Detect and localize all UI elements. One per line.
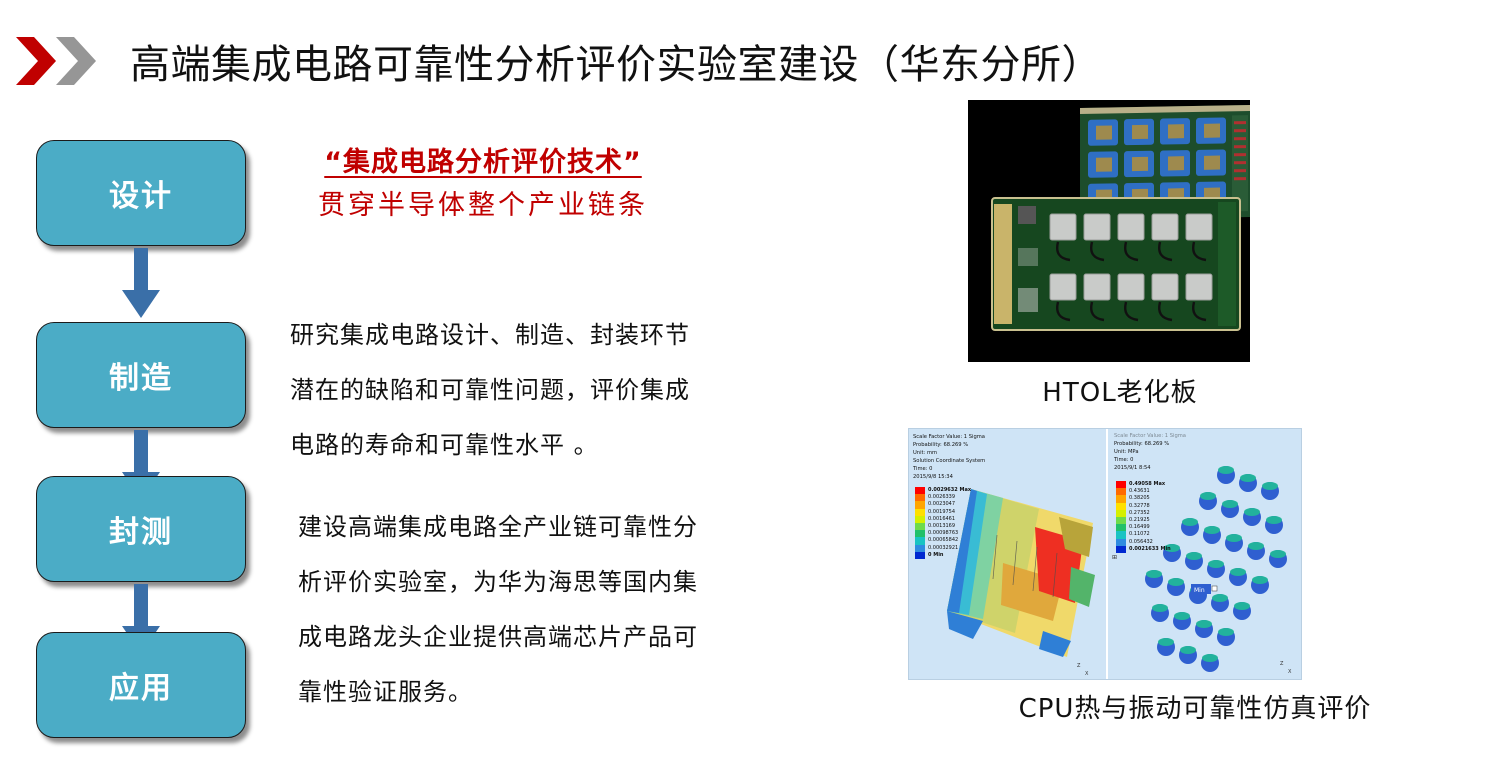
chevron-group: [14, 33, 100, 89]
legend-swatch: [1116, 488, 1126, 495]
flow-step-packaging-test[interactable]: 封测: [36, 476, 246, 582]
legend-value: 0.0029632 Max: [928, 487, 971, 494]
legend-swatch: [1116, 510, 1126, 517]
flow-arrow-1: [120, 248, 162, 320]
svg-text:Scale Factor Value: 1 Sigma: Scale Factor Value: 1 Sigma: [1114, 433, 1186, 439]
legend-swatch: [915, 509, 925, 516]
svg-text:Unit: MPa: Unit: MPa: [1114, 449, 1139, 455]
legend-value: 0.38205: [1129, 495, 1150, 502]
svg-text:Time: 0: Time: 0: [912, 466, 932, 472]
legend-swatch: [915, 487, 925, 494]
svg-text:Z: Z: [1077, 663, 1081, 669]
flow-step-label: 应用: [109, 663, 173, 707]
legend-swatch: [915, 545, 925, 552]
legend-value: 0.32778: [1129, 503, 1150, 510]
legend-value: 0.0026339: [928, 494, 955, 501]
legend-value: 0.056432: [1129, 539, 1153, 546]
legend-value: 0.0023047: [928, 501, 955, 508]
legend-swatch: [1116, 539, 1126, 546]
highlight-heading-line2: 贯穿半导体整个产业链条: [268, 183, 698, 222]
legend-swatch: [1116, 503, 1126, 510]
flow-step-label: 封测: [109, 507, 173, 551]
svg-text:Time: 0: Time: 0: [1113, 457, 1133, 463]
legend-value: 0.00032921: [928, 545, 958, 552]
legend-value: 0.00098763: [928, 530, 958, 537]
legend-swatch: [1116, 517, 1126, 524]
svg-text:⊞: ⊞: [1112, 554, 1117, 561]
min-tag-label: Min: [1194, 587, 1205, 594]
legend-value: 0.0021633 Min: [1129, 546, 1171, 553]
simulation-left-legend: 0.0029632 Max 0.0026339 0.0023047 0.0019…: [915, 487, 971, 559]
legend-value: 0.0016461: [928, 516, 955, 523]
page-title: 高端集成电路可靠性分析评价实验室建设（华东分所）: [130, 32, 1102, 90]
legend-value: 0.27352: [1129, 510, 1150, 517]
slide-root: 高端集成电路可靠性分析评价实验室建设（华东分所） 设计 制造 封测 应用 “集成…: [0, 0, 1497, 782]
svg-text:2015/9/1 8:54: 2015/9/1 8:54: [1114, 465, 1151, 471]
legend-swatch: [915, 516, 925, 523]
svg-text:Scale Factor Value: 1 Sigma: Scale Factor Value: 1 Sigma: [913, 434, 985, 440]
middle-text-column: “集成电路分析评价技术” 贯穿半导体整个产业链条 研究集成电路设计、制造、封装环…: [268, 140, 698, 222]
description-paragraph-2: 建设高端集成电路全产业链可靠性分析评价实验室，为华为海思等国内集成电路龙头企业提…: [298, 500, 708, 720]
legend-swatch: [915, 537, 925, 544]
legend-swatch: [1116, 524, 1126, 531]
legend-swatch: [1116, 481, 1126, 488]
legend-value: 0 Min: [928, 552, 943, 559]
legend-value: 0.16499: [1129, 524, 1150, 531]
svg-text:X: X: [1085, 671, 1089, 677]
legend-value: 0.0019754: [928, 509, 955, 516]
svg-text:X: X: [1288, 669, 1292, 675]
flow-step-manufacture[interactable]: 制造: [36, 322, 246, 428]
svg-text:Unit: mm: Unit: mm: [913, 450, 937, 456]
simulation-image: Scale Factor Value: 1 Sigma Probability:…: [908, 428, 1302, 680]
htol-board-photo: [968, 100, 1250, 362]
legend-swatch: [915, 523, 925, 530]
legend-swatch: [1116, 546, 1126, 553]
legend-swatch: [1116, 531, 1126, 538]
svg-text:2015/9/8 15:34: 2015/9/8 15:34: [913, 474, 954, 480]
highlight-heading-line1: “集成电路分析评价技术”: [268, 140, 698, 179]
simulation-left-panel: Scale Factor Value: 1 Sigma Probability:…: [909, 429, 1105, 679]
svg-text:Probability: 68.269 %: Probability: 68.269 %: [1114, 441, 1169, 447]
legend-value: 0.21925: [1129, 517, 1150, 524]
legend-swatch: [915, 552, 925, 559]
flow-step-label: 设计: [109, 171, 173, 215]
flow-step-application[interactable]: 应用: [36, 632, 246, 738]
flow-step-design[interactable]: 设计: [36, 140, 246, 246]
htol-board-illustration: [968, 100, 1250, 362]
legend-value: 0.0013169: [928, 523, 955, 530]
legend-swatch: [915, 530, 925, 537]
legend-swatch: [915, 501, 925, 508]
legend-value: 0.49058 Max: [1129, 481, 1165, 488]
legend-swatch: [915, 494, 925, 501]
simulation-right-panel: Min Scale Factor Value: 1 Sigma Probabil…: [1106, 429, 1302, 679]
svg-text:Solution Coordinate System: Solution Coordinate System: [913, 458, 985, 464]
slide-header: 高端集成电路可靠性分析评价实验室建设（华东分所）: [0, 22, 1497, 100]
svg-text:Probability: 68.269 %: Probability: 68.269 %: [913, 442, 968, 448]
legend-swatch: [1116, 495, 1126, 502]
svg-text:Z: Z: [1280, 661, 1284, 667]
legend-value: 0.43631: [1129, 488, 1150, 495]
simulation-caption: CPU热与振动可靠性仿真评价: [900, 688, 1490, 725]
simulation-right-legend: 0.49058 Max 0.43631 0.38205 0.32778 0.27…: [1116, 481, 1171, 553]
legend-value: 0.00065842: [928, 537, 958, 544]
legend-value: 0.11072: [1129, 531, 1150, 538]
description-paragraph-1: 研究集成电路设计、制造、封装环节潜在的缺陷和可靠性问题，评价集成电路的寿命和可靠…: [290, 308, 690, 473]
solder-ball-stress-plot: Min Scale Factor Value: 1 Sigma Probabil…: [1108, 429, 1302, 679]
chevron-right-icon-gray: [54, 35, 100, 87]
photo-caption: HTOL老化板: [900, 372, 1340, 409]
flow-step-label: 制造: [109, 353, 173, 397]
